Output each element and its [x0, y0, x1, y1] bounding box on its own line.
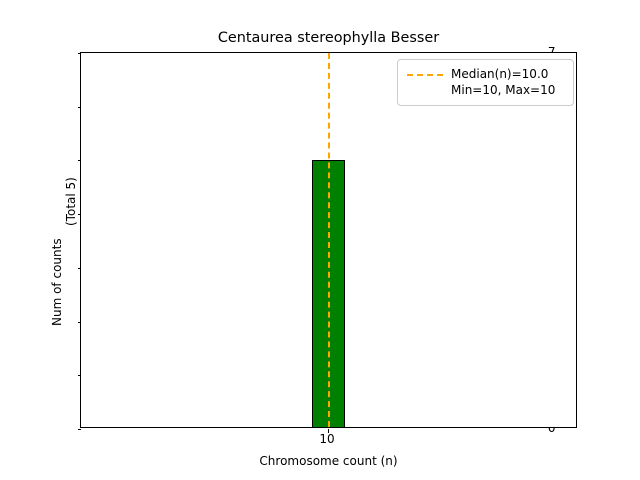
median-line [328, 53, 330, 427]
ytick-mark-7 [78, 53, 82, 54]
legend: Median(n)=10.0 Min=10, Max=10 [397, 59, 574, 106]
figure-canvas: Centaurea stereophylla Besser 0 1 2 3 4 … [0, 0, 640, 480]
y-axis-label-line-1: Num of counts [51, 238, 63, 326]
ytick-mark-1 [78, 375, 82, 376]
ytick-mark-5 [78, 160, 82, 161]
xtick-label-0: 10 [297, 433, 357, 445]
ytick-mark-3 [78, 268, 82, 269]
ytick-mark-0 [78, 429, 82, 430]
ytick-mark-6 [78, 107, 82, 108]
legend-entry-median: Median(n)=10.0 [407, 66, 564, 82]
page-title: Centaurea stereophylla Besser [80, 30, 577, 47]
ytick-mark-2 [78, 322, 82, 323]
legend-label-median: Median(n)=10.0 [451, 66, 548, 82]
y-axis-label-line-2: (Total 5) [65, 177, 77, 226]
ytick-mark-4 [78, 214, 82, 215]
legend-sublabel-minmax: Min=10, Max=10 [451, 82, 564, 98]
plot-area: Median(n)=10.0 Min=10, Max=10 [80, 52, 577, 428]
plot-inner [81, 53, 576, 427]
x-axis-label: Chromosome count (n) [80, 454, 577, 468]
dashed-line-icon [407, 67, 443, 81]
